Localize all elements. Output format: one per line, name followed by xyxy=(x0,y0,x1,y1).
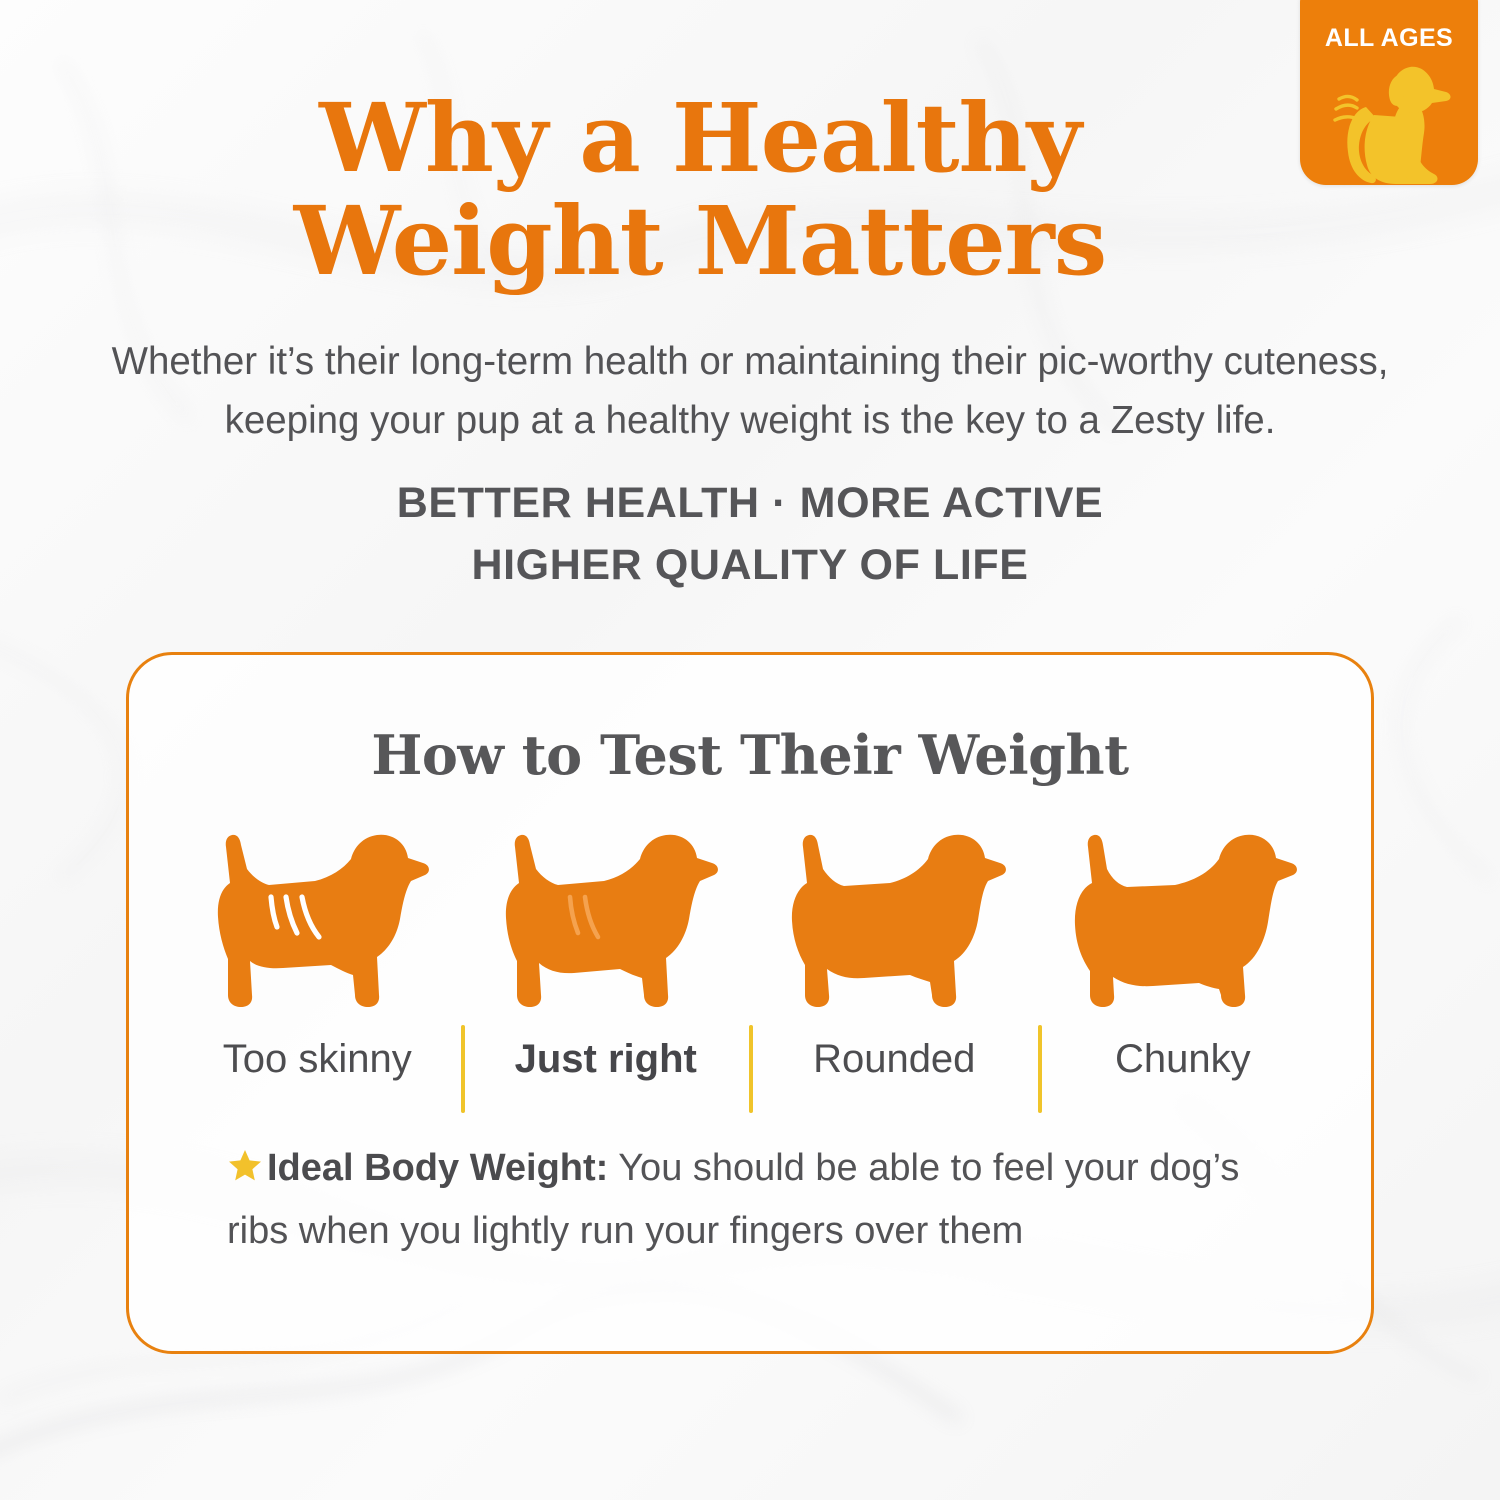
weight-test-card: How to Test Their Weight xyxy=(126,652,1374,1354)
all-ages-badge-label: ALL AGES xyxy=(1325,26,1453,51)
dog-too-skinny-icon xyxy=(203,823,431,1013)
star-icon xyxy=(227,1143,263,1202)
stage-divider xyxy=(749,1025,753,1113)
weight-stages-row: Too skinny Just right xyxy=(129,823,1371,1079)
dog-just-right-icon xyxy=(492,823,720,1013)
weight-stage-label: Just right xyxy=(515,1039,697,1079)
dog-rounded-icon xyxy=(780,823,1008,1013)
stage-divider xyxy=(1038,1025,1042,1113)
stage-divider xyxy=(461,1025,465,1113)
page-title-line1: Why a Healthy xyxy=(319,83,1081,194)
benefit-line-1: BETTER HEALTH · MORE ACTIVE xyxy=(0,472,1500,534)
weight-stage-rounded: Rounded xyxy=(750,823,1039,1079)
weight-stage-too-skinny: Too skinny xyxy=(173,823,462,1079)
dog-chunky-icon xyxy=(1065,823,1301,1013)
weight-stage-chunky: Chunky xyxy=(1039,823,1328,1079)
note-strong-label: Ideal Body Weight: xyxy=(267,1147,608,1189)
benefits-list: BETTER HEALTH · MORE ACTIVE HIGHER QUALI… xyxy=(0,472,1500,597)
weight-stage-just-right: Just right xyxy=(462,823,751,1079)
card-title: How to Test Their Weight xyxy=(129,723,1371,787)
ideal-body-weight-note: Ideal Body Weight: You should be able to… xyxy=(227,1139,1273,1261)
intro-paragraph: Whether it’s their long-term health or m… xyxy=(52,333,1448,450)
weight-stage-label: Too skinny xyxy=(223,1039,412,1079)
infographic-page: ALL AGES xyxy=(0,0,1500,1500)
benefit-line-2: HIGHER QUALITY OF LIFE xyxy=(0,534,1500,596)
page-title: Why a Healthy Weight Matters xyxy=(0,88,1500,293)
page-title-line2: Weight Matters xyxy=(200,191,1200,294)
weight-stage-label: Chunky xyxy=(1115,1039,1251,1079)
weight-stage-label: Rounded xyxy=(813,1039,975,1079)
